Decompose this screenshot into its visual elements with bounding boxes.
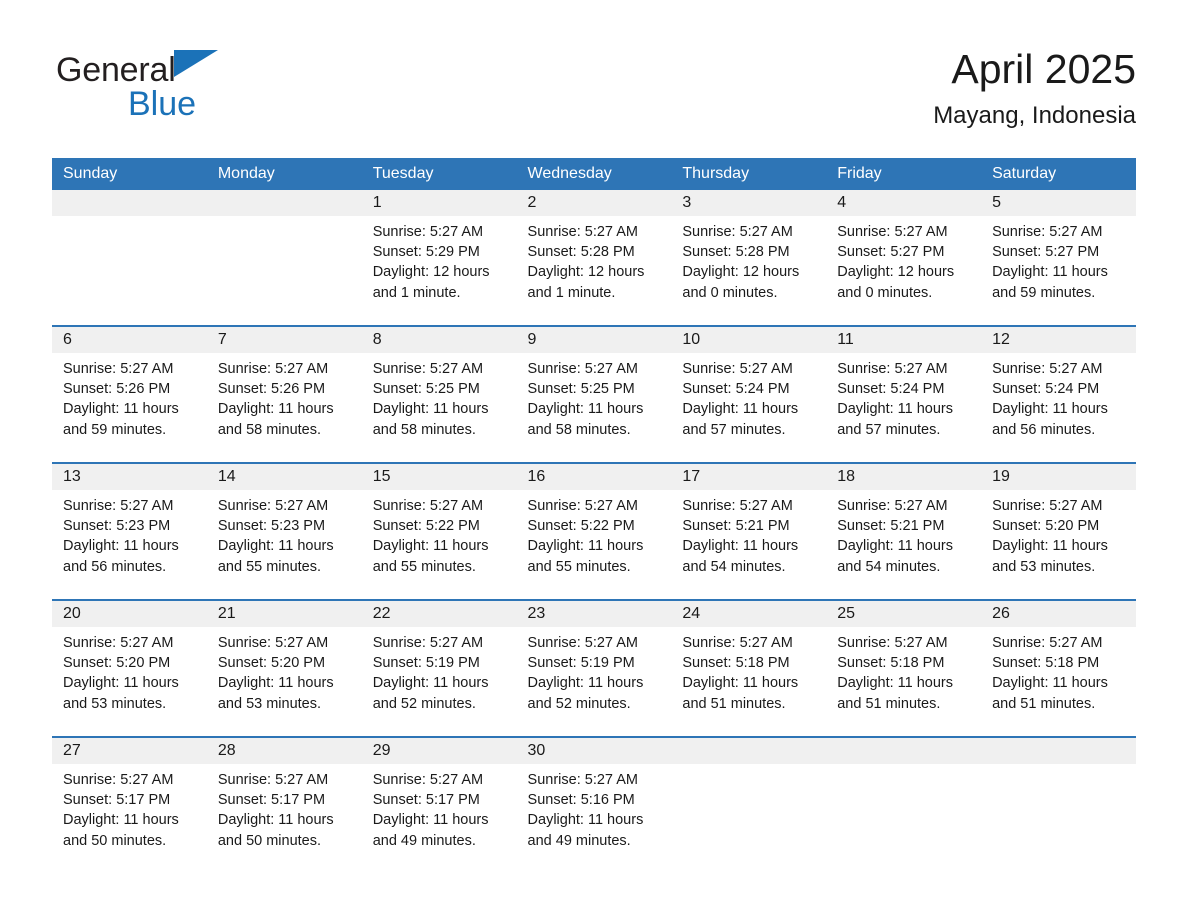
daylight-text: Daylight: 11 hours and 54 minutes.: [682, 536, 818, 576]
day-number: 19: [981, 464, 1136, 490]
day-details: Sunrise: 5:27 AMSunset: 5:24 PMDaylight:…: [981, 353, 1136, 440]
sunset-text: Sunset: 5:17 PM: [373, 790, 509, 810]
calendar-day-cell[interactable]: 27Sunrise: 5:27 AMSunset: 5:17 PMDayligh…: [52, 737, 207, 873]
sunrise-text: Sunrise: 5:27 AM: [528, 770, 664, 790]
sunset-text: Sunset: 5:18 PM: [837, 653, 973, 673]
calendar-week-row: 1Sunrise: 5:27 AMSunset: 5:29 PMDaylight…: [52, 190, 1136, 326]
sunrise-text: Sunrise: 5:27 AM: [218, 496, 354, 516]
daylight-text: Daylight: 11 hours and 57 minutes.: [837, 399, 973, 439]
calendar-empty-cell: [52, 190, 207, 326]
day-details: Sunrise: 5:27 AMSunset: 5:21 PMDaylight:…: [826, 490, 981, 577]
day-details: Sunrise: 5:27 AMSunset: 5:28 PMDaylight:…: [517, 216, 672, 303]
calendar-empty-cell: [207, 190, 362, 326]
day-number: 20: [52, 601, 207, 627]
calendar-header-row: Sunday Monday Tuesday Wednesday Thursday…: [52, 158, 1136, 190]
day-number: 9: [517, 327, 672, 353]
calendar-day-cell[interactable]: 4Sunrise: 5:27 AMSunset: 5:27 PMDaylight…: [826, 190, 981, 326]
calendar-day-cell[interactable]: 14Sunrise: 5:27 AMSunset: 5:23 PMDayligh…: [207, 463, 362, 600]
day-number: 21: [207, 601, 362, 627]
calendar-day-cell[interactable]: 29Sunrise: 5:27 AMSunset: 5:17 PMDayligh…: [362, 737, 517, 873]
day-number: 18: [826, 464, 981, 490]
daylight-text: Daylight: 11 hours and 53 minutes.: [63, 673, 199, 713]
daylight-text: Daylight: 11 hours and 52 minutes.: [528, 673, 664, 713]
weekday-header-wednesday: Wednesday: [517, 158, 672, 190]
day-number: 24: [671, 601, 826, 627]
sunrise-text: Sunrise: 5:27 AM: [837, 359, 973, 379]
daylight-text: Daylight: 11 hours and 50 minutes.: [63, 810, 199, 850]
day-number: 14: [207, 464, 362, 490]
sunrise-text: Sunrise: 5:27 AM: [837, 222, 973, 242]
weekday-header-thursday: Thursday: [671, 158, 826, 190]
daylight-text: Daylight: 11 hours and 58 minutes.: [373, 399, 509, 439]
sunset-text: Sunset: 5:20 PM: [218, 653, 354, 673]
sunrise-text: Sunrise: 5:27 AM: [837, 633, 973, 653]
day-number: [826, 738, 981, 764]
day-details: Sunrise: 5:27 AMSunset: 5:21 PMDaylight:…: [671, 490, 826, 577]
daylight-text: Daylight: 11 hours and 58 minutes.: [218, 399, 354, 439]
daylight-text: Daylight: 11 hours and 57 minutes.: [682, 399, 818, 439]
day-details: Sunrise: 5:27 AMSunset: 5:22 PMDaylight:…: [517, 490, 672, 577]
sunrise-text: Sunrise: 5:27 AM: [373, 770, 509, 790]
daylight-text: Daylight: 11 hours and 54 minutes.: [837, 536, 973, 576]
sunset-text: Sunset: 5:20 PM: [63, 653, 199, 673]
sunset-text: Sunset: 5:21 PM: [682, 516, 818, 536]
day-number: 16: [517, 464, 672, 490]
daylight-text: Daylight: 11 hours and 55 minutes.: [528, 536, 664, 576]
day-number: [207, 190, 362, 216]
blue-triangle-icon: [174, 50, 218, 77]
day-details: Sunrise: 5:27 AMSunset: 5:18 PMDaylight:…: [671, 627, 826, 714]
day-number: 3: [671, 190, 826, 216]
title-block: April 2025 Mayang, Indonesia: [933, 42, 1136, 132]
daylight-text: Daylight: 11 hours and 55 minutes.: [373, 536, 509, 576]
calendar-day-cell[interactable]: 23Sunrise: 5:27 AMSunset: 5:19 PMDayligh…: [517, 600, 672, 737]
logo-text-blue: Blue: [128, 84, 316, 124]
calendar-day-cell[interactable]: 20Sunrise: 5:27 AMSunset: 5:20 PMDayligh…: [52, 600, 207, 737]
sunrise-text: Sunrise: 5:27 AM: [373, 222, 509, 242]
sunrise-text: Sunrise: 5:27 AM: [992, 633, 1128, 653]
calendar-day-cell[interactable]: 10Sunrise: 5:27 AMSunset: 5:24 PMDayligh…: [671, 326, 826, 463]
day-number: 28: [207, 738, 362, 764]
daylight-text: Daylight: 12 hours and 0 minutes.: [682, 262, 818, 302]
daylight-text: Daylight: 11 hours and 59 minutes.: [63, 399, 199, 439]
weekday-header-tuesday: Tuesday: [362, 158, 517, 190]
generalblue-logo[interactable]: General Blue: [56, 50, 316, 130]
weekday-header-monday: Monday: [207, 158, 362, 190]
sunset-text: Sunset: 5:23 PM: [218, 516, 354, 536]
sunrise-text: Sunrise: 5:27 AM: [63, 359, 199, 379]
calendar-day-cell[interactable]: 19Sunrise: 5:27 AMSunset: 5:20 PMDayligh…: [981, 463, 1136, 600]
sunset-text: Sunset: 5:28 PM: [528, 242, 664, 262]
calendar-day-cell[interactable]: 9Sunrise: 5:27 AMSunset: 5:25 PMDaylight…: [517, 326, 672, 463]
calendar-day-cell[interactable]: 25Sunrise: 5:27 AMSunset: 5:18 PMDayligh…: [826, 600, 981, 737]
day-number: 4: [826, 190, 981, 216]
sunset-text: Sunset: 5:23 PM: [63, 516, 199, 536]
sunrise-text: Sunrise: 5:27 AM: [992, 496, 1128, 516]
sunset-text: Sunset: 5:21 PM: [837, 516, 973, 536]
day-details: Sunrise: 5:27 AMSunset: 5:26 PMDaylight:…: [52, 353, 207, 440]
day-details: Sunrise: 5:27 AMSunset: 5:20 PMDaylight:…: [981, 490, 1136, 577]
day-details: Sunrise: 5:27 AMSunset: 5:20 PMDaylight:…: [207, 627, 362, 714]
weekday-header-friday: Friday: [826, 158, 981, 190]
sunset-text: Sunset: 5:19 PM: [373, 653, 509, 673]
daylight-text: Daylight: 12 hours and 1 minute.: [373, 262, 509, 302]
calendar-week-row: 20Sunrise: 5:27 AMSunset: 5:20 PMDayligh…: [52, 600, 1136, 737]
day-details: Sunrise: 5:27 AMSunset: 5:19 PMDaylight:…: [517, 627, 672, 714]
calendar-day-cell[interactable]: 30Sunrise: 5:27 AMSunset: 5:16 PMDayligh…: [517, 737, 672, 873]
sunset-text: Sunset: 5:22 PM: [528, 516, 664, 536]
day-number: 8: [362, 327, 517, 353]
day-details: Sunrise: 5:27 AMSunset: 5:18 PMDaylight:…: [826, 627, 981, 714]
sunrise-text: Sunrise: 5:27 AM: [63, 770, 199, 790]
calendar-day-cell[interactable]: 13Sunrise: 5:27 AMSunset: 5:23 PMDayligh…: [52, 463, 207, 600]
day-details: Sunrise: 5:27 AMSunset: 5:16 PMDaylight:…: [517, 764, 672, 851]
sunrise-text: Sunrise: 5:27 AM: [373, 496, 509, 516]
sunset-text: Sunset: 5:25 PM: [528, 379, 664, 399]
day-number: 23: [517, 601, 672, 627]
sunrise-text: Sunrise: 5:27 AM: [218, 359, 354, 379]
sunrise-text: Sunrise: 5:27 AM: [992, 222, 1128, 242]
sunset-text: Sunset: 5:18 PM: [992, 653, 1128, 673]
daylight-text: Daylight: 11 hours and 59 minutes.: [992, 262, 1128, 302]
page-subtitle-location: Mayang, Indonesia: [933, 100, 1136, 132]
sunrise-text: Sunrise: 5:27 AM: [682, 633, 818, 653]
day-details: Sunrise: 5:27 AMSunset: 5:20 PMDaylight:…: [52, 627, 207, 714]
weekday-header-sunday: Sunday: [52, 158, 207, 190]
calendar-empty-cell: [981, 737, 1136, 873]
daylight-text: Daylight: 11 hours and 52 minutes.: [373, 673, 509, 713]
day-number: 25: [826, 601, 981, 627]
sunrise-text: Sunrise: 5:27 AM: [528, 222, 664, 242]
calendar-day-cell[interactable]: 17Sunrise: 5:27 AMSunset: 5:21 PMDayligh…: [671, 463, 826, 600]
sunrise-text: Sunrise: 5:27 AM: [528, 359, 664, 379]
page-header: General Blue April 2025 Mayang, Indonesi…: [52, 42, 1136, 150]
sunset-text: Sunset: 5:27 PM: [837, 242, 973, 262]
day-details: Sunrise: 5:27 AMSunset: 5:27 PMDaylight:…: [826, 216, 981, 303]
calendar-day-cell[interactable]: 8Sunrise: 5:27 AMSunset: 5:25 PMDaylight…: [362, 326, 517, 463]
sunrise-text: Sunrise: 5:27 AM: [218, 633, 354, 653]
calendar-day-cell[interactable]: 6Sunrise: 5:27 AMSunset: 5:26 PMDaylight…: [52, 326, 207, 463]
weekday-header-saturday: Saturday: [981, 158, 1136, 190]
day-number: [52, 190, 207, 216]
calendar-day-cell[interactable]: 22Sunrise: 5:27 AMSunset: 5:19 PMDayligh…: [362, 600, 517, 737]
calendar-day-cell[interactable]: 2Sunrise: 5:27 AMSunset: 5:28 PMDaylight…: [517, 190, 672, 326]
day-number: 1: [362, 190, 517, 216]
daylight-text: Daylight: 12 hours and 1 minute.: [528, 262, 664, 302]
day-number: 10: [671, 327, 826, 353]
day-number: 29: [362, 738, 517, 764]
day-details: Sunrise: 5:27 AMSunset: 5:19 PMDaylight:…: [362, 627, 517, 714]
day-details: Sunrise: 5:27 AMSunset: 5:29 PMDaylight:…: [362, 216, 517, 303]
sunset-text: Sunset: 5:19 PM: [528, 653, 664, 673]
calendar-day-cell[interactable]: 28Sunrise: 5:27 AMSunset: 5:17 PMDayligh…: [207, 737, 362, 873]
daylight-text: Daylight: 11 hours and 51 minutes.: [992, 673, 1128, 713]
page-title: April 2025: [933, 42, 1136, 96]
sunrise-text: Sunrise: 5:27 AM: [682, 496, 818, 516]
sunset-text: Sunset: 5:16 PM: [528, 790, 664, 810]
calendar-week-row: 6Sunrise: 5:27 AMSunset: 5:26 PMDaylight…: [52, 326, 1136, 463]
calendar-day-cell[interactable]: 3Sunrise: 5:27 AMSunset: 5:28 PMDaylight…: [671, 190, 826, 326]
day-number: 5: [981, 190, 1136, 216]
day-details: Sunrise: 5:27 AMSunset: 5:17 PMDaylight:…: [207, 764, 362, 851]
daylight-text: Daylight: 11 hours and 51 minutes.: [682, 673, 818, 713]
sunset-text: Sunset: 5:25 PM: [373, 379, 509, 399]
sunset-text: Sunset: 5:24 PM: [682, 379, 818, 399]
calendar-page: General Blue April 2025 Mayang, Indonesi…: [0, 0, 1188, 918]
sunrise-text: Sunrise: 5:27 AM: [528, 633, 664, 653]
day-details: Sunrise: 5:27 AMSunset: 5:25 PMDaylight:…: [362, 353, 517, 440]
sunset-text: Sunset: 5:26 PM: [63, 379, 199, 399]
daylight-text: Daylight: 11 hours and 49 minutes.: [373, 810, 509, 850]
calendar-table: Sunday Monday Tuesday Wednesday Thursday…: [52, 158, 1136, 873]
calendar-day-cell[interactable]: 12Sunrise: 5:27 AMSunset: 5:24 PMDayligh…: [981, 326, 1136, 463]
sunrise-text: Sunrise: 5:27 AM: [528, 496, 664, 516]
day-number: 26: [981, 601, 1136, 627]
daylight-text: Daylight: 11 hours and 58 minutes.: [528, 399, 664, 439]
daylight-text: Daylight: 11 hours and 53 minutes.: [992, 536, 1128, 576]
sunset-text: Sunset: 5:17 PM: [63, 790, 199, 810]
calendar-day-cell[interactable]: 21Sunrise: 5:27 AMSunset: 5:20 PMDayligh…: [207, 600, 362, 737]
day-number: 2: [517, 190, 672, 216]
sunrise-text: Sunrise: 5:27 AM: [682, 222, 818, 242]
sunrise-text: Sunrise: 5:27 AM: [63, 496, 199, 516]
sunrise-text: Sunrise: 5:27 AM: [373, 359, 509, 379]
calendar-empty-cell: [826, 737, 981, 873]
calendar-day-cell[interactable]: 5Sunrise: 5:27 AMSunset: 5:27 PMDaylight…: [981, 190, 1136, 326]
day-details: Sunrise: 5:27 AMSunset: 5:27 PMDaylight:…: [981, 216, 1136, 303]
daylight-text: Daylight: 11 hours and 55 minutes.: [218, 536, 354, 576]
day-number: 17: [671, 464, 826, 490]
daylight-text: Daylight: 11 hours and 56 minutes.: [992, 399, 1128, 439]
day-number: 13: [52, 464, 207, 490]
sunset-text: Sunset: 5:20 PM: [992, 516, 1128, 536]
daylight-text: Daylight: 11 hours and 50 minutes.: [218, 810, 354, 850]
calendar-day-cell[interactable]: 15Sunrise: 5:27 AMSunset: 5:22 PMDayligh…: [362, 463, 517, 600]
sunset-text: Sunset: 5:17 PM: [218, 790, 354, 810]
daylight-text: Daylight: 11 hours and 53 minutes.: [218, 673, 354, 713]
sunrise-text: Sunrise: 5:27 AM: [837, 496, 973, 516]
day-number: 15: [362, 464, 517, 490]
day-details: Sunrise: 5:27 AMSunset: 5:23 PMDaylight:…: [52, 490, 207, 577]
day-details: Sunrise: 5:27 AMSunset: 5:17 PMDaylight:…: [52, 764, 207, 851]
day-number: 27: [52, 738, 207, 764]
sunrise-text: Sunrise: 5:27 AM: [373, 633, 509, 653]
daylight-text: Daylight: 12 hours and 0 minutes.: [837, 262, 973, 302]
day-number: 22: [362, 601, 517, 627]
calendar-day-cell[interactable]: 16Sunrise: 5:27 AMSunset: 5:22 PMDayligh…: [517, 463, 672, 600]
sunrise-text: Sunrise: 5:27 AM: [682, 359, 818, 379]
sunset-text: Sunset: 5:27 PM: [992, 242, 1128, 262]
calendar-day-cell[interactable]: 7Sunrise: 5:27 AMSunset: 5:26 PMDaylight…: [207, 326, 362, 463]
day-details: Sunrise: 5:27 AMSunset: 5:17 PMDaylight:…: [362, 764, 517, 851]
day-number: [981, 738, 1136, 764]
calendar-day-cell[interactable]: 26Sunrise: 5:27 AMSunset: 5:18 PMDayligh…: [981, 600, 1136, 737]
day-number: 7: [207, 327, 362, 353]
calendar-week-row: 13Sunrise: 5:27 AMSunset: 5:23 PMDayligh…: [52, 463, 1136, 600]
sunset-text: Sunset: 5:18 PM: [682, 653, 818, 673]
daylight-text: Daylight: 11 hours and 56 minutes.: [63, 536, 199, 576]
sunrise-text: Sunrise: 5:27 AM: [63, 633, 199, 653]
day-number: 11: [826, 327, 981, 353]
calendar-day-cell[interactable]: 11Sunrise: 5:27 AMSunset: 5:24 PMDayligh…: [826, 326, 981, 463]
calendar-body: 1Sunrise: 5:27 AMSunset: 5:29 PMDaylight…: [52, 190, 1136, 873]
day-details: Sunrise: 5:27 AMSunset: 5:23 PMDaylight:…: [207, 490, 362, 577]
day-details: Sunrise: 5:27 AMSunset: 5:25 PMDaylight:…: [517, 353, 672, 440]
daylight-text: Daylight: 11 hours and 51 minutes.: [837, 673, 973, 713]
calendar-empty-cell: [671, 737, 826, 873]
sunrise-text: Sunrise: 5:27 AM: [218, 770, 354, 790]
sunset-text: Sunset: 5:24 PM: [837, 379, 973, 399]
day-number: 6: [52, 327, 207, 353]
sunrise-text: Sunrise: 5:27 AM: [992, 359, 1128, 379]
day-details: Sunrise: 5:27 AMSunset: 5:24 PMDaylight:…: [671, 353, 826, 440]
day-number: 30: [517, 738, 672, 764]
day-details: Sunrise: 5:27 AMSunset: 5:28 PMDaylight:…: [671, 216, 826, 303]
day-details: Sunrise: 5:27 AMSunset: 5:18 PMDaylight:…: [981, 627, 1136, 714]
sunset-text: Sunset: 5:24 PM: [992, 379, 1128, 399]
sunset-text: Sunset: 5:26 PM: [218, 379, 354, 399]
sunset-text: Sunset: 5:22 PM: [373, 516, 509, 536]
calendar-week-row: 27Sunrise: 5:27 AMSunset: 5:17 PMDayligh…: [52, 737, 1136, 873]
day-number: [671, 738, 826, 764]
sunset-text: Sunset: 5:28 PM: [682, 242, 818, 262]
calendar-day-cell[interactable]: 18Sunrise: 5:27 AMSunset: 5:21 PMDayligh…: [826, 463, 981, 600]
calendar-day-cell[interactable]: 24Sunrise: 5:27 AMSunset: 5:18 PMDayligh…: [671, 600, 826, 737]
calendar-day-cell[interactable]: 1Sunrise: 5:27 AMSunset: 5:29 PMDaylight…: [362, 190, 517, 326]
day-details: Sunrise: 5:27 AMSunset: 5:24 PMDaylight:…: [826, 353, 981, 440]
day-details: Sunrise: 5:27 AMSunset: 5:26 PMDaylight:…: [207, 353, 362, 440]
sunset-text: Sunset: 5:29 PM: [373, 242, 509, 262]
daylight-text: Daylight: 11 hours and 49 minutes.: [528, 810, 664, 850]
day-details: Sunrise: 5:27 AMSunset: 5:22 PMDaylight:…: [362, 490, 517, 577]
day-number: 12: [981, 327, 1136, 353]
